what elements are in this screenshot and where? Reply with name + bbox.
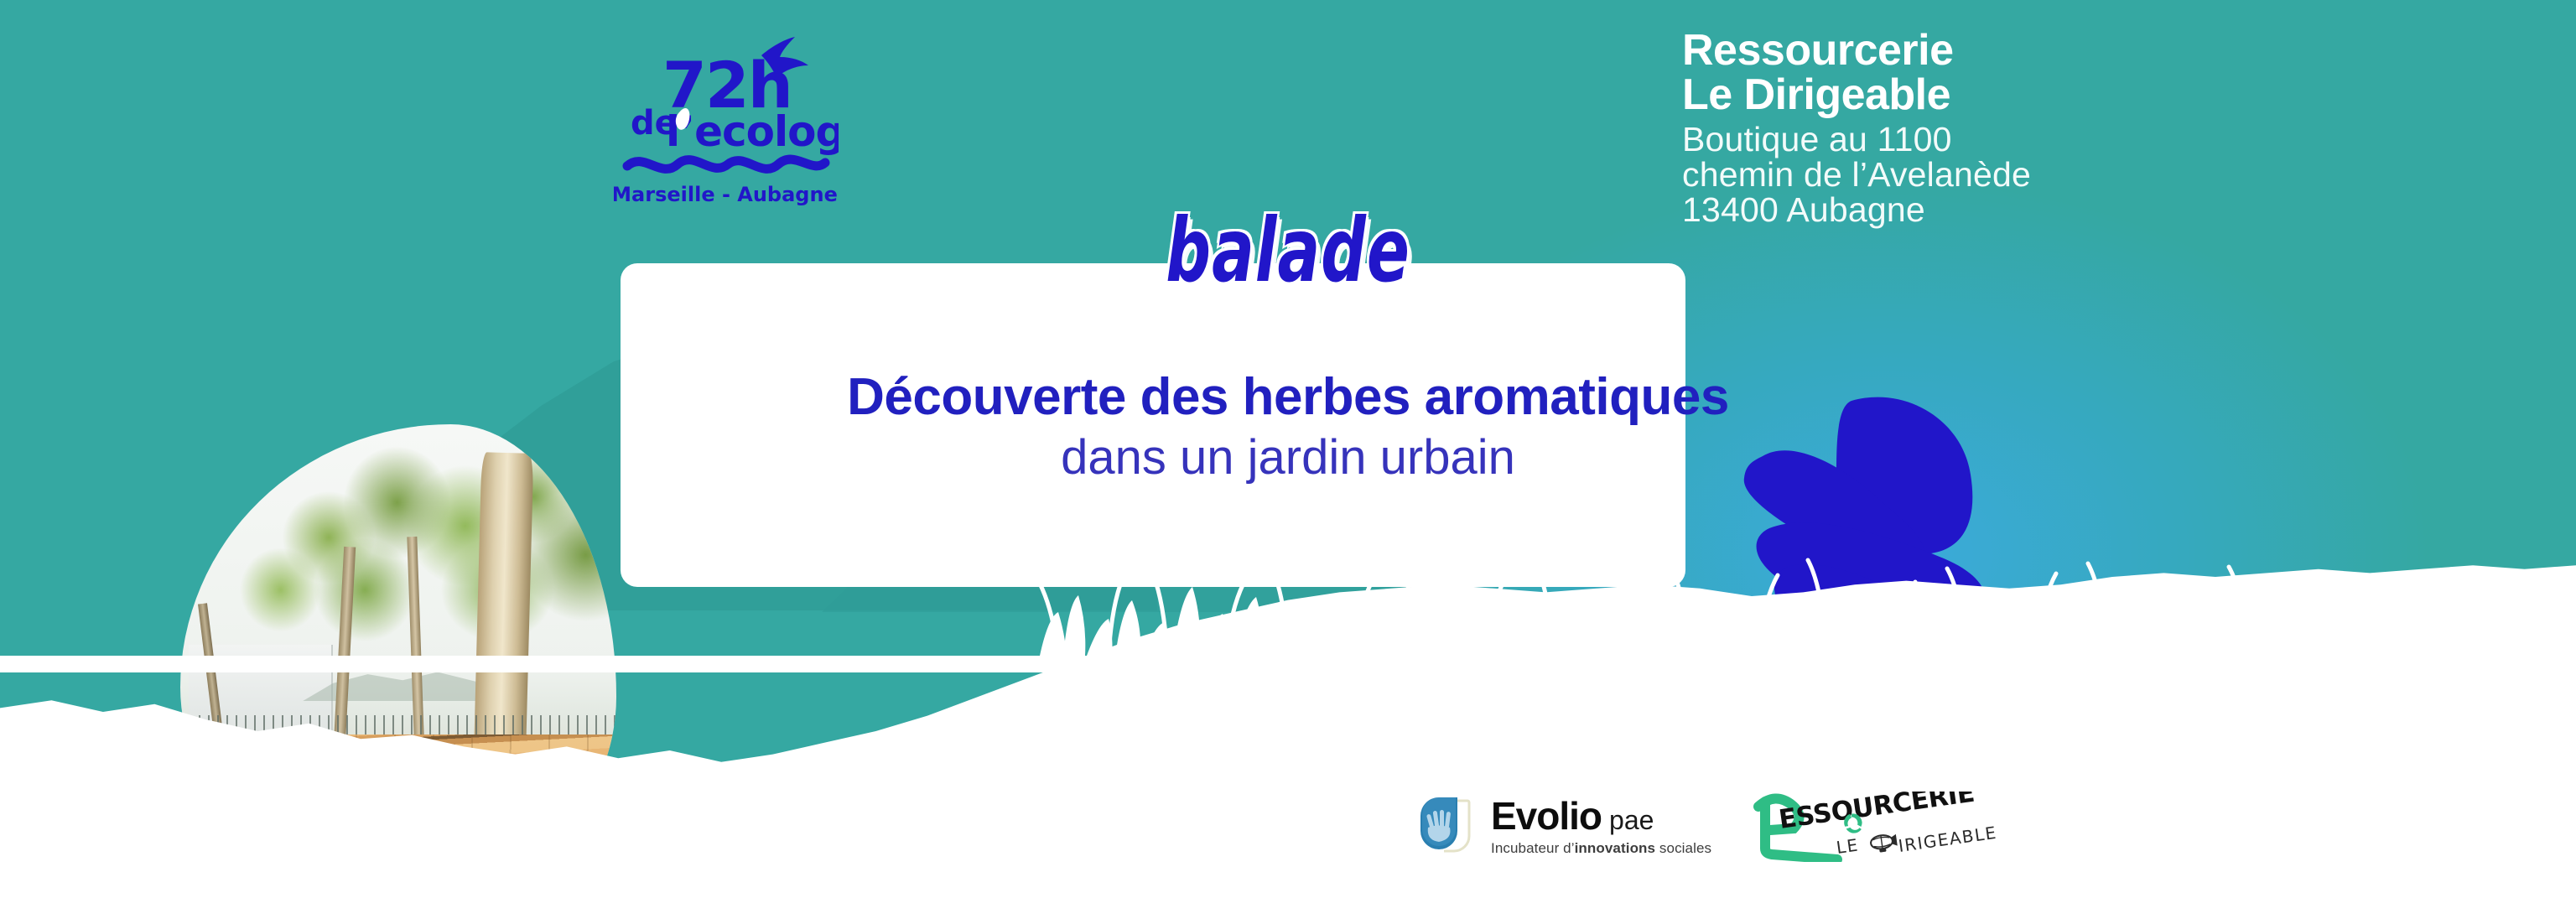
evolio-suffix: pae	[1609, 807, 1654, 833]
page-title: Découverte des herbes aromatiques	[0, 367, 2576, 427]
le-dirigeable-prefix: LE	[1835, 834, 1860, 857]
wave-icon	[627, 159, 825, 169]
venue-name: Ressourcerie Le Dirigeable	[1682, 29, 2031, 117]
venue-address: Boutique au 1100 chemin de l’Avelanède 1…	[1682, 122, 2031, 227]
evolio-tagline: Incubateur d’innovations sociales	[1491, 840, 1711, 857]
poster-canvas: 72h de l’ecologie Marseille - Aubagne Re…	[0, 0, 2576, 924]
page-subtitle: dans un jardin urbain	[0, 429, 2576, 485]
partner-logo-evolio[interactable]: Evolio pae Incubateur d’innovations soci…	[1417, 796, 1711, 858]
evolio-name: Evolio	[1491, 797, 1602, 835]
evolio-wordmark: Evolio pae Incubateur d’innovations soci…	[1491, 797, 1711, 857]
partner-logo-ressourcerie-le-dirigeable[interactable]: ESSOURCERIE LE IRIGEABLE	[1750, 792, 2018, 862]
logo-ecologie-text: l’ecologie	[666, 107, 839, 156]
partner-logos: Evolio pae Incubateur d’innovations soci…	[1417, 792, 2018, 862]
event-logo-72h-de-lecologie: 72h de l’ecologie Marseille - Aubagne	[614, 32, 839, 210]
evolio-handprint-icon	[1417, 796, 1479, 858]
evolio-tagline-pre: Incubateur d’	[1491, 840, 1575, 856]
le-dirigeable-suffix: IRIGEABLE	[1897, 823, 1998, 856]
venue-info: Ressourcerie Le Dirigeable Boutique au 1…	[1682, 29, 2031, 228]
airship-icon	[1870, 833, 1898, 854]
evolio-tagline-post: sociales	[1655, 840, 1711, 856]
logo-city-text: Marseille - Aubagne	[614, 183, 838, 206]
evolio-tagline-bold: innovations	[1575, 840, 1656, 856]
